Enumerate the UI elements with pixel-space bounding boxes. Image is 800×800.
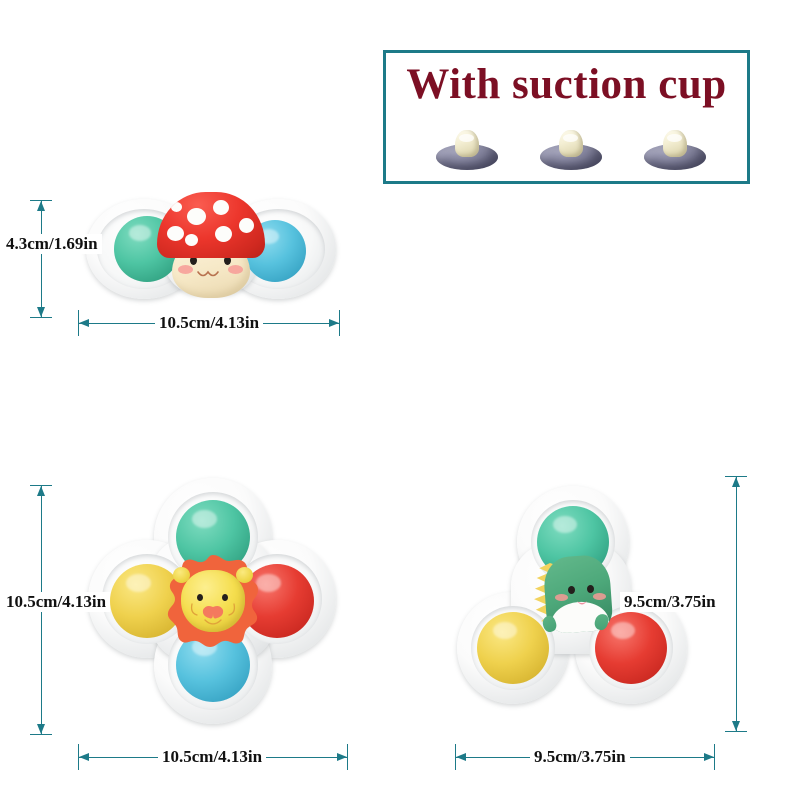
suction-cup-knob (455, 130, 479, 157)
dino-mouth (574, 599, 592, 611)
mushroom-cap-dot (167, 226, 184, 241)
mushroom-height-dimension-line (30, 200, 52, 318)
mushroom-spinner-image (86, 190, 336, 308)
infographic-canvas: With suction cup (0, 0, 800, 800)
lion-height-label: 10.5cm/4.13in (2, 592, 110, 612)
lion-eye-left (197, 594, 203, 601)
lion-width-label: 10.5cm/4.13in (158, 747, 266, 767)
dino-cheek-left (555, 594, 568, 601)
mushroom-cap-dot (185, 234, 198, 246)
mushroom-cap-dot (187, 208, 206, 225)
dino-cheek-right (593, 593, 606, 600)
mushroom-mouth (196, 269, 226, 283)
mushroom-cap-dot (171, 202, 182, 212)
mushroom-cap (157, 192, 265, 258)
dino-eye-right (587, 585, 594, 593)
suction-cup-icon-1 (436, 128, 498, 172)
dino-eye-left (568, 586, 575, 594)
suction-cup-icon-2 (540, 128, 602, 172)
suction-cup-banner: With suction cup (383, 50, 750, 184)
suction-cup-images (436, 128, 706, 174)
mushroom-cap-dot (213, 200, 229, 215)
lion-spinner-image (88, 478, 338, 728)
lion-muzzle (189, 601, 237, 629)
mushroom-cheek-right (228, 265, 243, 274)
dino-height-label: 9.5cm/3.75in (620, 592, 720, 612)
lion-character (165, 553, 261, 649)
dino-height-dimension-line (725, 476, 747, 732)
suction-cup-knob (663, 130, 687, 157)
dino-character (527, 554, 625, 650)
mushroom-cheek-left (178, 265, 193, 274)
suction-cup-icon-3 (644, 128, 706, 172)
mushroom-cap-dot (215, 226, 232, 242)
mushroom-width-label: 10.5cm/4.13in (155, 313, 263, 333)
lion-eye-right (222, 594, 228, 601)
mushroom-height-label: 4.3cm/1.69in (2, 234, 102, 254)
suction-cup-banner-title: With suction cup (386, 59, 747, 111)
suction-cup-knob (559, 130, 583, 157)
dino-width-label: 9.5cm/3.75in (530, 747, 630, 767)
mushroom-cap-dot (239, 218, 254, 233)
